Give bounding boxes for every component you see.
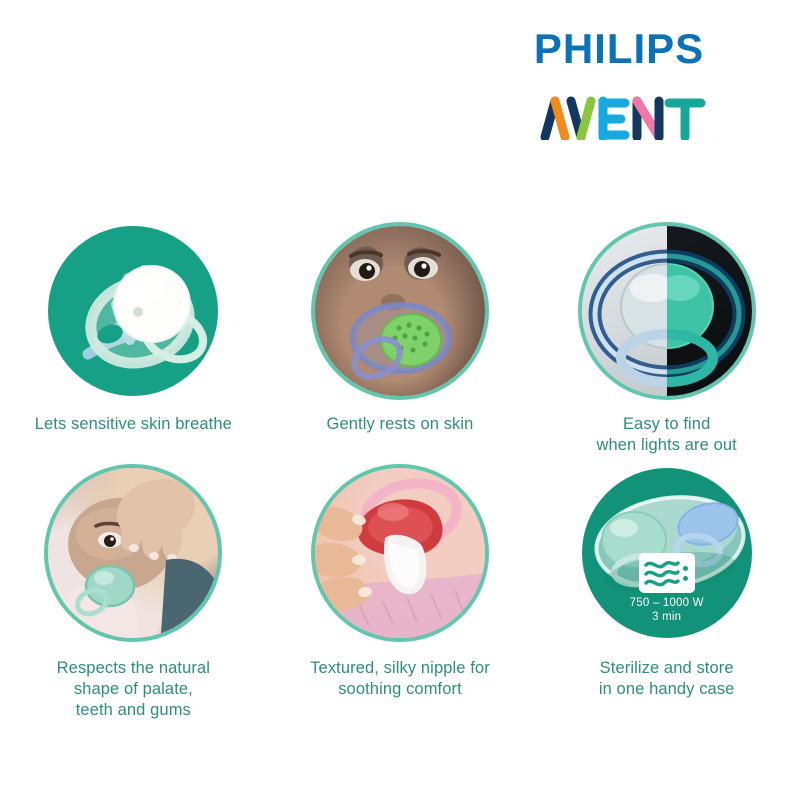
feature-image-silky-nipple [311, 464, 489, 642]
feature-caption-breathe: Lets sensitive skin breathe [35, 414, 232, 435]
feature-caption-sterilize-store: Sterilize and store in one handy case [599, 658, 735, 700]
feature-image-natural-shape [44, 464, 222, 642]
feature-caption-natural-shape: Respects the natural shape of palate, te… [57, 658, 210, 721]
hand-holding-pink-pacifier-illustration [315, 468, 485, 638]
feature-card-breathe: Lets sensitive skin breathe [0, 222, 267, 456]
pacifier-airflow-illustration [48, 226, 222, 400]
feature-card-glow-in-dark: Easy to find when lights are out [533, 222, 800, 456]
mother-baby-photo [48, 468, 218, 638]
avent-letter-a-orange [555, 101, 565, 137]
feature-image-breathe [44, 222, 222, 400]
feature-card-silky-nipple: Textured, silky nipple for soothing comf… [267, 464, 534, 721]
baby-with-pacifier-illustration [315, 226, 485, 396]
caption-line: soothing comfort [310, 679, 490, 700]
avent-logo-svg [531, 94, 707, 140]
feature-caption-silky-nipple: Textured, silky nipple for soothing comf… [310, 658, 490, 700]
microwave-power-label: 750 – 1000 W [630, 597, 704, 611]
caption-line: Gently rests on skin [327, 414, 474, 435]
feature-image-glow-in-dark [578, 222, 756, 400]
microwave-badge: 750 – 1000 W 3 min [630, 553, 704, 624]
feature-caption-rests-on-skin: Gently rests on skin [327, 414, 474, 435]
microwave-time-label: 3 min [630, 611, 704, 625]
teal-backdrop [48, 226, 218, 396]
product-feature-infographic: PHILIPS [0, 0, 800, 800]
philips-wordmark: PHILIPS [504, 28, 734, 70]
feature-caption-glow-in-dark: Easy to find when lights are out [596, 414, 736, 456]
feature-card-natural-shape: Respects the natural shape of palate, te… [0, 464, 267, 721]
caption-line: Easy to find [596, 414, 736, 435]
avent-wordmark [504, 92, 734, 140]
feature-image-rests-on-skin [311, 222, 489, 400]
caption-line: Sterilize and store [599, 658, 735, 679]
caption-line: Textured, silky nipple for [310, 658, 490, 679]
microwave-dot-upper [683, 566, 688, 571]
teal-backdrop: 750 – 1000 W 3 min [582, 468, 752, 638]
brand-logo-block: PHILIPS [504, 28, 734, 140]
caption-line: in one handy case [599, 679, 735, 700]
feature-card-rests-on-skin: Gently rests on skin [267, 222, 534, 456]
feature-card-sterilize-store: 750 – 1000 W 3 min Sterilize and store i… [533, 464, 800, 721]
caption-line: Lets sensitive skin breathe [35, 414, 232, 435]
microwave-wave-lines [644, 558, 680, 588]
microwave-dot-lower [683, 576, 688, 581]
feature-grid: Lets sensitive skin breathe [0, 222, 800, 722]
avent-letter-v-green [581, 101, 591, 137]
mother-holding-baby-illustration [48, 468, 218, 638]
caption-line: Respects the natural [57, 658, 210, 679]
microwave-icon [639, 553, 695, 593]
caption-line: when lights are out [596, 435, 736, 456]
feature-image-sterilize-store: 750 – 1000 W 3 min [578, 464, 756, 642]
caption-line: shape of palate, [57, 679, 210, 700]
caption-line: teeth and gums [57, 700, 210, 721]
pink-pacifier-photo [315, 468, 485, 638]
split-light-dark-photo [582, 226, 752, 396]
baby-photo [315, 226, 485, 396]
glow-pacifier-illustration [582, 226, 752, 396]
